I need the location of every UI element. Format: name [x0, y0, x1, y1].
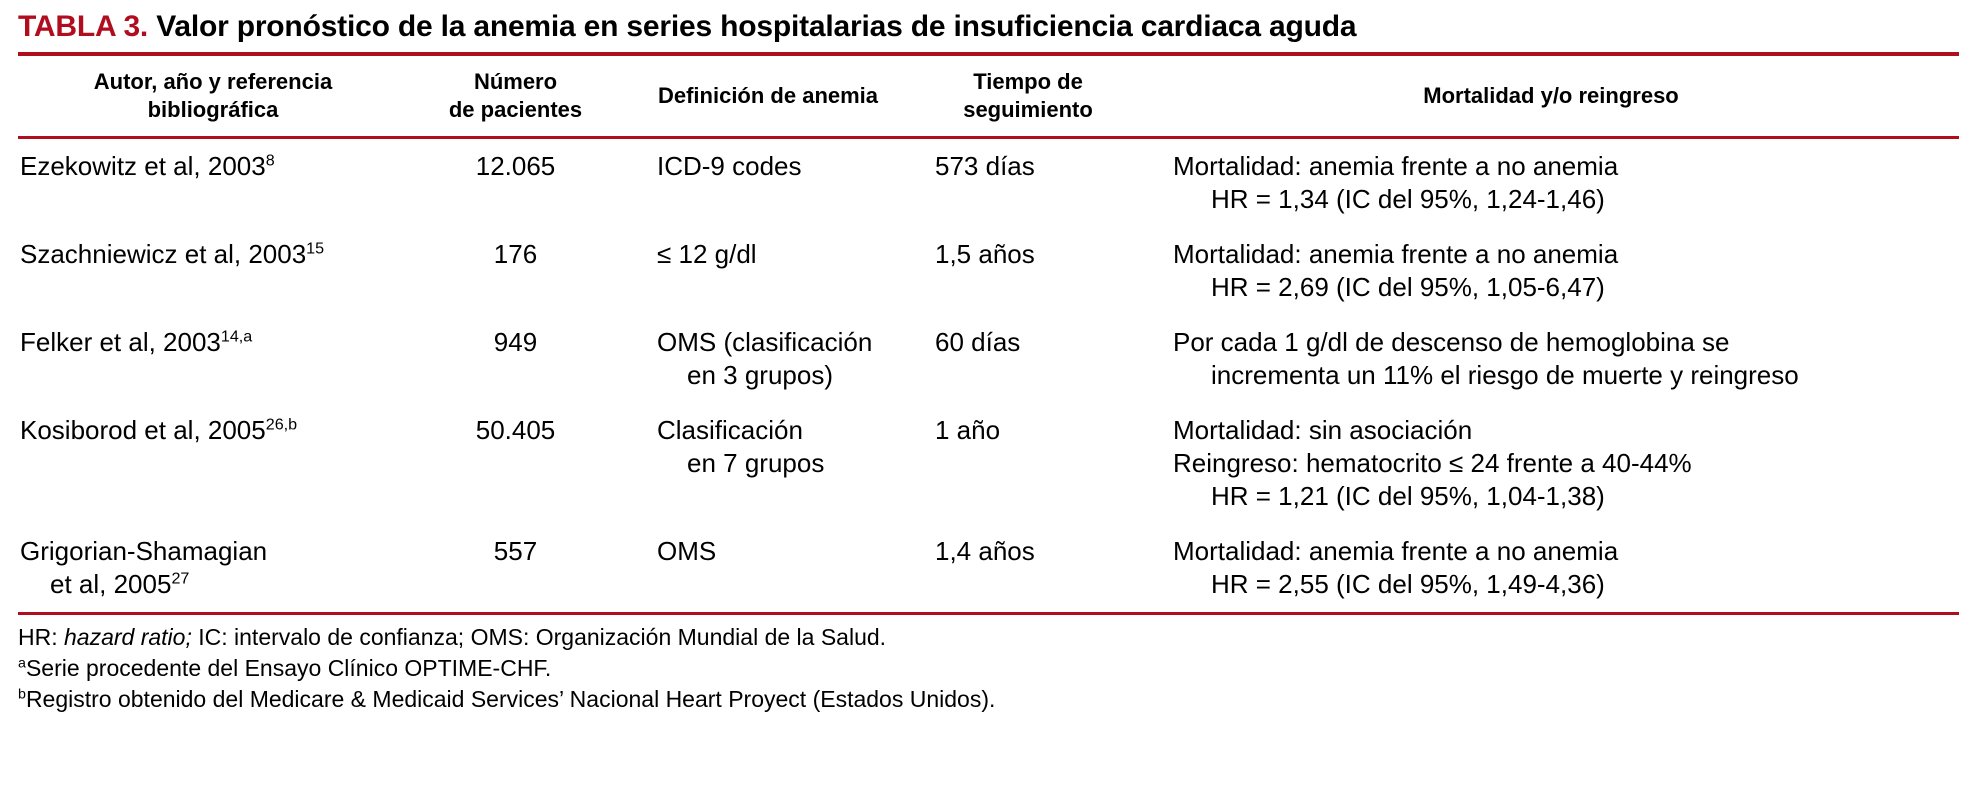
definition-line1: OMS [657, 535, 907, 568]
cell-author: Szachniewicz et al, 200315 [18, 227, 408, 315]
cell-definition: ≤ 12 g/dl [623, 227, 913, 315]
author-line1: Kosiborod et al, 200526,b [20, 414, 402, 447]
cell-outcome: Mortalidad: anemia frente a no anemia HR… [1143, 139, 1959, 227]
cell-definition: Clasificación en 7 grupos [623, 403, 913, 524]
footnote-a: aSerie procedente del Ensayo Clínico OPT… [18, 653, 1959, 684]
author-superscript: 27 [171, 569, 189, 587]
cell-followup: 1 año [913, 403, 1143, 524]
cell-definition: OMS (clasificación en 3 grupos) [623, 315, 913, 403]
column-header-patients: Número de pacientes [408, 56, 623, 136]
column-header-outcome: Mortalidad y/o reingreso [1143, 56, 1959, 136]
outcome-line1: Mortalidad: anemia frente a no anemia [1173, 535, 1953, 568]
cell-patients: 12.065 [408, 139, 623, 227]
cell-outcome: Por cada 1 g/dl de descenso de hemoglobi… [1143, 315, 1959, 403]
outcome-line1: Por cada 1 g/dl de descenso de hemoglobi… [1173, 326, 1953, 359]
footnote-b: bRegistro obtenido del Medicare & Medica… [18, 684, 1959, 715]
column-header-definition-line1: Definición de anemia [658, 83, 878, 108]
outcome-line2: incrementa un 11% el riesgo de muerte y … [1173, 359, 1953, 392]
cell-followup: 60 días [913, 315, 1143, 403]
footnote-abbrev-rest: IC: intervalo de confianza; OMS: Organiz… [192, 624, 886, 650]
author-superscript: 15 [306, 239, 324, 257]
author-line2: et al, 200527 [20, 568, 402, 601]
cell-definition: ICD-9 codes [623, 139, 913, 227]
author-superscript: 26,b [266, 415, 297, 433]
column-header-followup: Tiempo de seguimiento [913, 56, 1143, 136]
table-row: Ezekowitz et al, 20038 12.065 ICD-9 code… [18, 139, 1959, 227]
column-header-patients-line1: Número [474, 69, 557, 94]
cell-author: Felker et al, 200314,a [18, 315, 408, 403]
table-row: Kosiborod et al, 200526,b 50.405 Clasifi… [18, 403, 1959, 524]
cell-followup: 1,4 años [913, 524, 1143, 612]
outcome-line2: Reingreso: hematocrito ≤ 24 frente a 40-… [1173, 447, 1953, 480]
footnote-hr-italic: hazard ratio; [64, 624, 192, 650]
definition-line1: ≤ 12 g/dl [657, 238, 907, 271]
cell-author: Grigorian-Shamagian et al, 200527 [18, 524, 408, 612]
table-body: Ezekowitz et al, 20038 12.065 ICD-9 code… [18, 139, 1959, 612]
outcome-line1: Mortalidad: anemia frente a no anemia [1173, 150, 1953, 183]
definition-line1: Clasificación [657, 414, 907, 447]
column-header-definition: Definición de anemia [623, 56, 913, 136]
footnote-b-text: Registro obtenido del Medicare & Medicai… [26, 686, 995, 712]
outcome-line2: HR = 2,69 (IC del 95%, 1,05-6,47) [1173, 271, 1953, 304]
definition-line1: OMS (clasificación [657, 326, 907, 359]
footnote-a-marker: a [18, 655, 26, 671]
table-footnotes: HR: hazard ratio; IC: intervalo de confi… [18, 615, 1959, 715]
table-row: Grigorian-Shamagian et al, 200527 557 OM… [18, 524, 1959, 612]
table-head: Autor, año y referencia bibliográfica Nú… [18, 56, 1959, 136]
cell-followup: 1,5 años [913, 227, 1143, 315]
table-body-grid: Ezekowitz et al, 20038 12.065 ICD-9 code… [18, 139, 1959, 612]
cell-patients: 176 [408, 227, 623, 315]
definition-line2: en 3 grupos) [657, 359, 907, 392]
definition-line2: en 7 grupos [657, 447, 907, 480]
outcome-line2: HR = 2,55 (IC del 95%, 1,49-4,36) [1173, 568, 1953, 601]
table-caption: TABLA 3. Valor pronóstico de la anemia e… [18, 0, 1959, 52]
author-line1: Grigorian-Shamagian [20, 535, 402, 568]
footnote-hr-label: HR: [18, 624, 64, 650]
author-line1: Szachniewicz et al, 200315 [20, 238, 402, 271]
table-row: Felker et al, 200314,a 949 OMS (clasific… [18, 315, 1959, 403]
table-header-grid: Autor, año y referencia bibliográfica Nú… [18, 56, 1959, 136]
author-text-2: et al, 2005 [50, 569, 171, 599]
cell-definition: OMS [623, 524, 913, 612]
cell-author: Kosiborod et al, 200526,b [18, 403, 408, 524]
column-header-followup-line2: seguimiento [963, 97, 1093, 122]
outcome-line1: Mortalidad: sin asociación [1173, 414, 1953, 447]
column-header-author-line2: bibliográfica [148, 97, 279, 122]
footnote-a-text: Serie procedente del Ensayo Clínico OPTI… [26, 655, 551, 681]
table-number-label: TABLA 3. [18, 10, 148, 43]
cell-patients: 50.405 [408, 403, 623, 524]
definition-line1: ICD-9 codes [657, 150, 907, 183]
cell-patients: 557 [408, 524, 623, 612]
cell-followup: 573 días [913, 139, 1143, 227]
cell-patients: 949 [408, 315, 623, 403]
outcome-line2: HR = 1,34 (IC del 95%, 1,24-1,46) [1173, 183, 1953, 216]
table-row: Szachniewicz et al, 200315 176 ≤ 12 g/dl… [18, 227, 1959, 315]
table-container: TABLA 3. Valor pronóstico de la anemia e… [0, 0, 1977, 795]
author-text: Kosiborod et al, 2005 [20, 415, 266, 445]
column-header-outcome-line1: Mortalidad y/o reingreso [1423, 83, 1679, 108]
author-superscript: 14,a [221, 327, 252, 345]
page-title: Valor pronóstico de la anemia en series … [156, 10, 1356, 43]
footnote-abbreviations: HR: hazard ratio; IC: intervalo de confi… [18, 622, 1959, 653]
column-header-author-line1: Autor, año y referencia [94, 69, 332, 94]
cell-outcome: Mortalidad: sin asociación Reingreso: he… [1143, 403, 1959, 524]
outcome-line1: Mortalidad: anemia frente a no anemia [1173, 238, 1953, 271]
cell-author: Ezekowitz et al, 20038 [18, 139, 408, 227]
column-header-followup-line1: Tiempo de [973, 69, 1083, 94]
footnote-b-marker: b [18, 686, 26, 702]
column-header-author: Autor, año y referencia bibliográfica [18, 56, 408, 136]
author-superscript: 8 [266, 151, 275, 169]
author-line1: Ezekowitz et al, 20038 [20, 150, 402, 183]
author-text: Szachniewicz et al, 2003 [20, 239, 306, 269]
header-row: Autor, año y referencia bibliográfica Nú… [18, 56, 1959, 136]
cell-outcome: Mortalidad: anemia frente a no anemia HR… [1143, 227, 1959, 315]
column-header-patients-line2: de pacientes [449, 97, 582, 122]
author-text: Ezekowitz et al, 2003 [20, 151, 266, 181]
author-line1: Felker et al, 200314,a [20, 326, 402, 359]
author-text: Felker et al, 2003 [20, 327, 221, 357]
cell-outcome: Mortalidad: anemia frente a no anemia HR… [1143, 524, 1959, 612]
outcome-line3: HR = 1,21 (IC del 95%, 1,04-1,38) [1173, 480, 1953, 513]
